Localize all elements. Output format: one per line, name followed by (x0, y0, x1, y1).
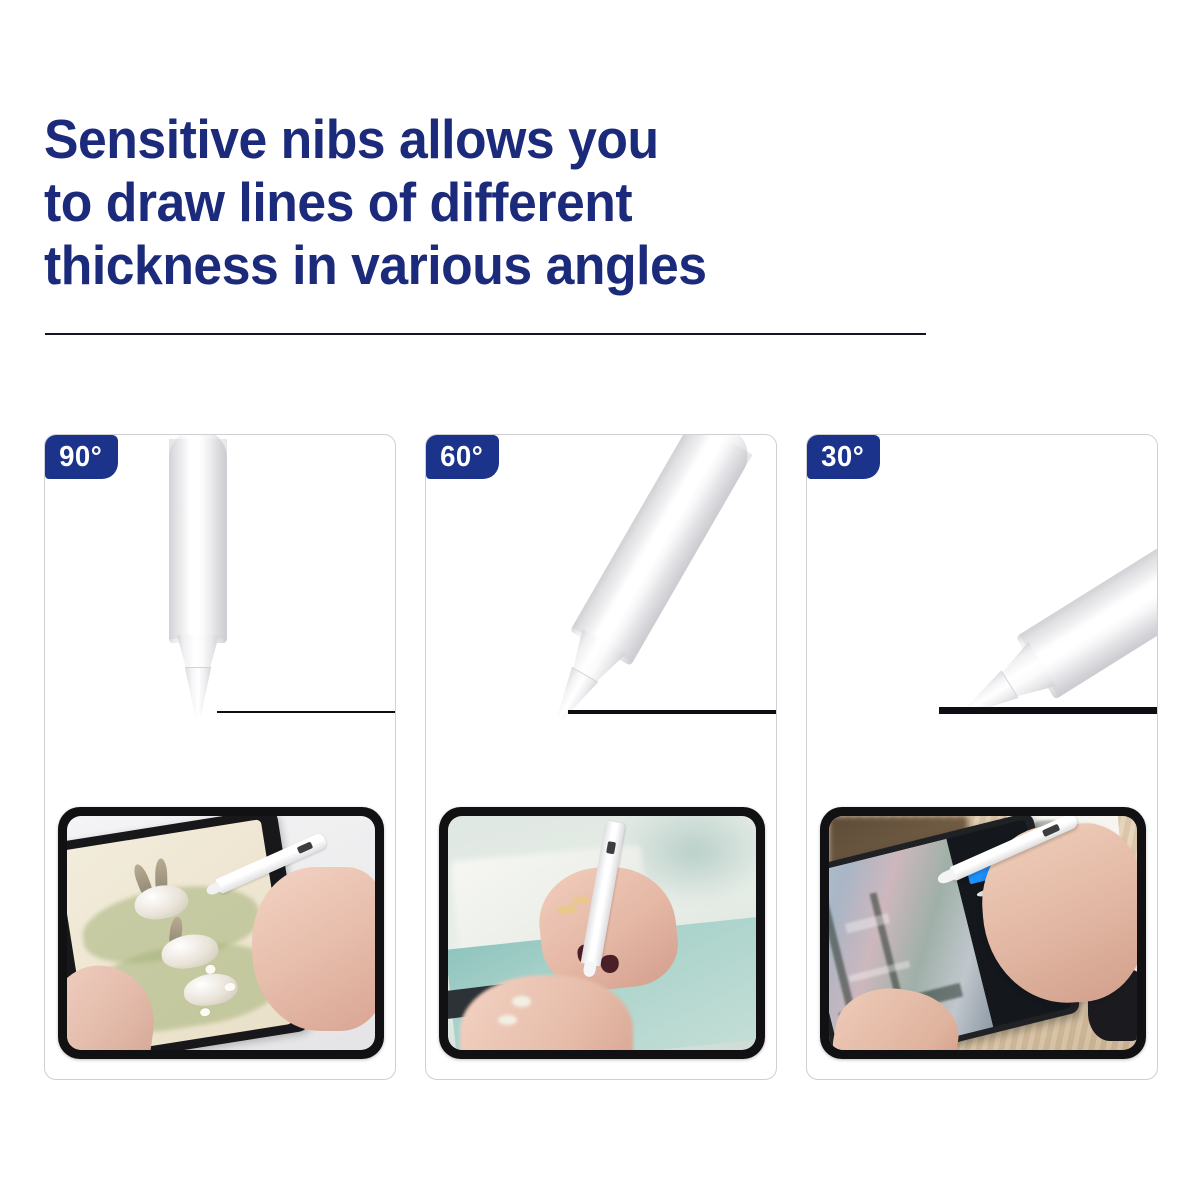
infographic-page: Sensitive nibs allows you to draw lines … (0, 0, 1200, 1200)
stylus-illustration-60 (426, 435, 776, 787)
angle-panel-90: 90° (44, 434, 396, 1080)
drawn-stroke-line (939, 707, 1157, 714)
page-title: Sensitive nibs allows you to draw lines … (44, 108, 964, 297)
angle-badge-30: 30° (807, 435, 880, 479)
headline-line-3: thickness in various angles (44, 234, 909, 297)
angle-panel-60: 60° (425, 434, 777, 1080)
photo-hand-drawing-rabbit (67, 816, 375, 1050)
stylus-icon (169, 435, 227, 717)
angle-badge-label: 60° (440, 443, 483, 472)
photo-drawing-app-on-tablet (829, 816, 1137, 1050)
finger-ring (498, 1015, 517, 1026)
headline-line-2: to draw lines of different (44, 171, 909, 234)
fingernail (600, 954, 619, 974)
stylus-icon (528, 435, 759, 739)
photo-frame (439, 807, 765, 1059)
angle-demo-panels: 90° (44, 434, 1158, 1080)
stylus-nib (185, 668, 211, 715)
stylus-illustration-90 (45, 435, 395, 787)
photo-frame (820, 807, 1146, 1059)
angle-badge-90: 90° (45, 435, 118, 479)
angle-panel-30: 30° (806, 434, 1158, 1080)
finger-ring (557, 905, 578, 916)
headline-line-1: Sensitive nibs allows you (44, 108, 909, 171)
photo-hand-writing-on-tablet (448, 816, 756, 1050)
angle-badge-60: 60° (426, 435, 499, 479)
drawn-stroke-line (217, 711, 395, 713)
stylus-button (297, 842, 314, 855)
drawn-stroke-line (568, 710, 776, 714)
angle-badge-label: 30° (821, 443, 864, 472)
stylus-flat-edge (169, 439, 227, 639)
finger-ring (512, 996, 531, 1007)
stylus-button (605, 841, 615, 854)
header-divider (45, 333, 926, 335)
photo-frame (58, 807, 384, 1059)
stylus-illustration-30 (807, 435, 1157, 787)
stylus-flat-edge (572, 435, 753, 662)
stylus-cone (177, 635, 219, 669)
stylus-button (1042, 824, 1060, 837)
finger-ring (572, 896, 590, 905)
angle-badge-label: 90° (59, 443, 102, 472)
